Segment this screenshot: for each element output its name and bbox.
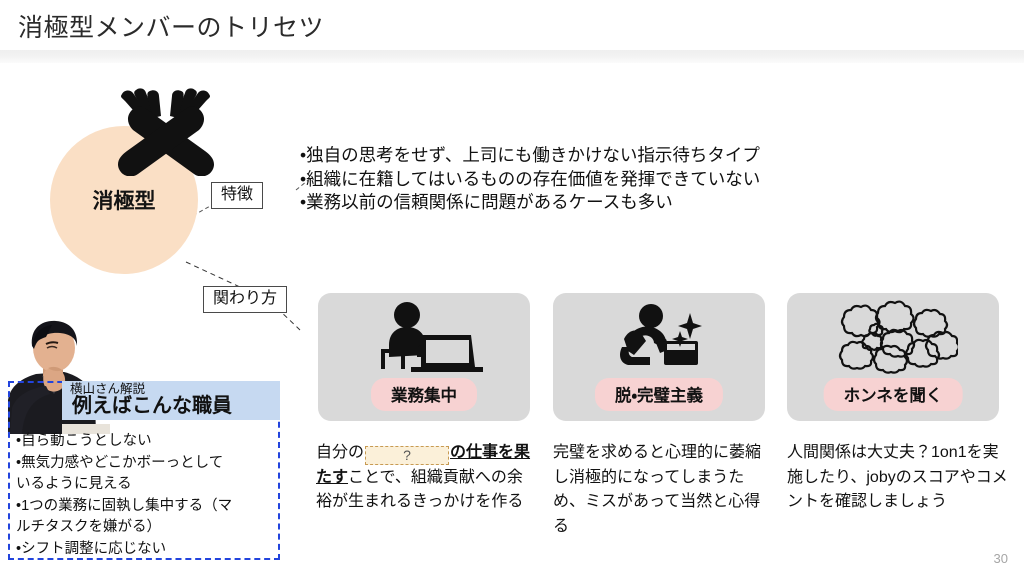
person-at-laptop-icon (318, 299, 530, 381)
list-item: いるように見える (16, 474, 272, 496)
card-pill-label: 脱・完璧主義 (595, 378, 723, 411)
measure-card-1: 業務集中 (318, 293, 530, 421)
list-item: •自ら動こうとしない (16, 431, 272, 453)
list-item: •シフト調整に応じない (16, 539, 272, 561)
measure-card-2: 脱・完璧主義 (553, 293, 765, 421)
example-box-subtitle: 横山さん解説 (70, 382, 145, 396)
card-caption-3: 人間関係は大丈夫？1on1を実施したり、jobyのスコアやコメントを確認しましょ… (787, 441, 1009, 515)
feature-item: •組織に在籍してはいるものの存在価値を発揮できていない (300, 168, 840, 192)
type-circle-label: 消極型 (50, 185, 198, 215)
card-caption-1: 自分の?の仕事を果たすことで、組織貢献への余裕が生まれるきっかけを作る (316, 441, 538, 515)
caption-rest: ことで、組織貢献への余裕が生まれるきっかけを作る (316, 469, 523, 511)
page-number: 30 (994, 551, 1008, 566)
feature-item: •独自の思考をせず、上司にも働きかけない指示待ちタイプ (300, 144, 840, 168)
caption-prefix: 自分の (316, 444, 364, 461)
feature-item: •業務以前の信頼関係に問題があるケースも多い (300, 191, 840, 215)
list-item: •1つの業務に固執し集中する（マ (16, 496, 272, 518)
person-cleaning-sparkle-icon (553, 299, 765, 381)
list-item: ルチタスクを嫌がる） (16, 517, 272, 539)
tag-feature: 特徴 (211, 182, 263, 209)
slide-root: 消極型メンバーのトリセツ 消極型 特徴 関わり方 •独自 (0, 0, 1024, 576)
measure-card-3: ホンネを聞く (787, 293, 999, 421)
example-box-title: 例えばこんな職員 (72, 395, 232, 418)
example-box-list: •自ら動こうとしない •無気力感やどこかボーっとして いるように見える •1つの… (16, 431, 272, 560)
feature-list: •独自の思考をせず、上司にも働きかけない指示待ちタイプ •組織に在籍してはいるも… (300, 144, 840, 215)
card-pill-label: ホンネを聞く (824, 378, 963, 411)
thought-bubbles-icon (787, 299, 999, 381)
list-item: •無気力感やどこかボーっとして (16, 453, 272, 475)
card-caption-2: 完璧を求めると心理的に萎縮し消極的になってしまうため、ミスがあって当然と心得る (553, 441, 775, 539)
tag-relation: 関わり方 (203, 286, 287, 313)
crossed-arms-x-icon (112, 88, 220, 176)
answer-blank-slot[interactable]: ? (365, 446, 449, 465)
card-pill-label: 業務集中 (371, 378, 477, 411)
